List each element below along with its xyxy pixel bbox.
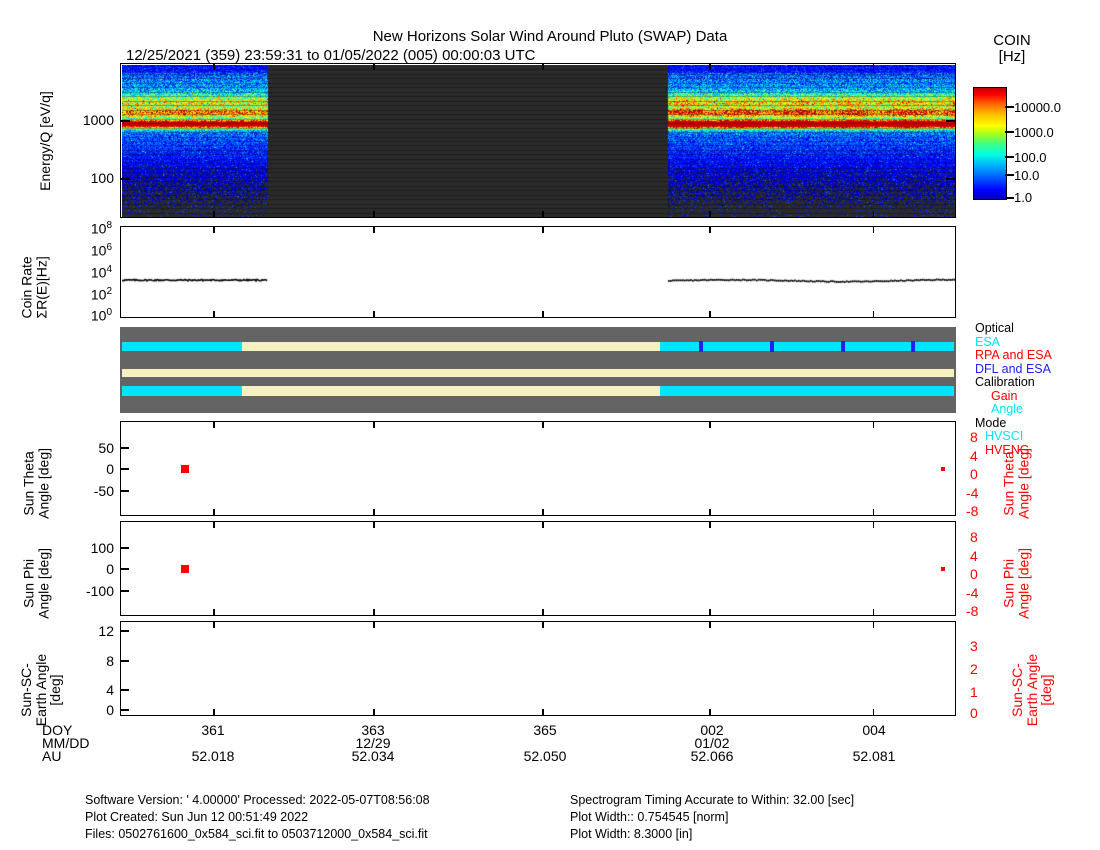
colorbar-tickmark-10000: [1005, 106, 1014, 108]
sun-theta-ylabel-line2: Angle [deg]: [36, 448, 52, 519]
xaxis-tickmark-p1-2-bottom: [542, 311, 544, 318]
sun-phi-right-ytick-4: 4: [970, 548, 978, 564]
footer-right-line2: Plot Width:: 0.754545 [norm]: [570, 810, 728, 824]
sun-sc-earth-ylabel-line1: Sun-SC-: [18, 663, 34, 717]
sun-sc-earth-right-ylabel-line3: [deg]: [1038, 674, 1054, 705]
xaxis-tickmark-p3-0-bottom: [213, 609, 215, 616]
xaxis-tickmark-p3-3-bottom: [709, 609, 711, 616]
xaxis-tickmark-p0-1-top: [373, 63, 375, 70]
sun-theta-point-right: [941, 467, 945, 471]
xaxis-tickmark-p2-4-bottom: [873, 509, 875, 516]
xaxis-tickmark-p1-0-bottom: [213, 311, 215, 318]
xaxis-tick-doy-2: 365: [495, 722, 595, 738]
legend-item-rpa-and-esa: RPA and ESA: [975, 349, 1052, 363]
xaxis-tickmark-p0-4-bottom: [873, 211, 875, 218]
colorbar-tickmark-100: [1005, 156, 1014, 158]
sun-sc-earth-right-ytick-0: 0: [970, 705, 978, 721]
xaxis-tickmark-p0-2-bottom: [542, 211, 544, 218]
xaxis-tickmark-p2-2-top: [542, 421, 544, 428]
sun-sc-earth-right-ylabel-line1: Sun-SC-: [1009, 663, 1025, 717]
xaxis-tickmark-p0-3-bottom: [709, 211, 711, 218]
sun-theta-ytick-0: 0: [56, 461, 114, 477]
sun-sc-earth-ytick-8: 8: [58, 653, 114, 669]
sun-theta-right-ytick-neg4: -4: [966, 485, 978, 501]
xaxis-tickmark-p0-1-bottom: [373, 211, 375, 218]
xaxis-tickmark-p2-0-bottom: [213, 509, 215, 516]
sun-theta-panel: [120, 421, 956, 516]
sun-phi-right-ylabel-line2: Angle [deg]: [1016, 548, 1032, 619]
legend-item-dfl-and-esa: DFL and ESA: [975, 363, 1052, 377]
calibration-segment-gain: [122, 369, 954, 377]
xaxis-row-label-au: AU: [42, 748, 61, 764]
xaxis-tickmark-p1-0-top: [213, 226, 215, 233]
footer-left-line3: Files: 0502761600_0x584_sci.fit to 05037…: [85, 827, 428, 841]
sun-theta-right-ytick-neg8: -8: [966, 503, 978, 519]
xaxis-tickmark-p0-4-top: [873, 63, 875, 70]
xaxis-tickmark-p1-1-top: [373, 226, 375, 233]
colorbar-tickmark-10: [1005, 174, 1014, 176]
coin-rate-ytick-2: 102: [60, 286, 112, 303]
xaxis-tickmark-p4-2-top: [542, 621, 544, 628]
xaxis-tickmark-p1-4-bottom: [873, 311, 875, 318]
sun-phi-tick-neg100: [120, 590, 129, 592]
sun-theta-ylabel-line1: Sun Theta: [21, 451, 37, 515]
sun-phi-panel: [120, 521, 956, 616]
xaxis-tickmark-p3-4-bottom: [873, 609, 875, 616]
sun-theta-right-ytick-0: 0: [970, 466, 978, 482]
xaxis-tick-au-2: 52.050: [495, 748, 595, 764]
xaxis-tickmark-p1-1-bottom: [373, 311, 375, 318]
xaxis-tickmark-p3-2-bottom: [542, 609, 544, 616]
sun-theta-ytick-50: 50: [56, 440, 114, 456]
spectrogram-tick-major-1000-right: [946, 120, 956, 122]
xaxis-tickmark-p1-4-top: [873, 226, 875, 233]
xaxis-tickmark-p4-1-bottom: [373, 709, 375, 716]
sun-sc-earth-right-ytick-2: 2: [970, 661, 978, 677]
legend-group-calibration: Calibration Gain Angle: [975, 376, 1052, 417]
sun-phi-right-ylabel-line1: Sun Phi: [1001, 559, 1017, 608]
xaxis-tickmark-p0-0-bottom: [213, 211, 215, 218]
legend-header-optical: Optical: [975, 322, 1052, 336]
spectrogram-ylabel: Energy/Q [eV/q]: [37, 61, 53, 221]
xaxis-tickmark-p3-0-top: [213, 521, 215, 528]
sun-phi-ytick-0: 0: [52, 561, 114, 577]
mode-segment-hvsci-right: [660, 386, 954, 396]
xaxis-tickmark-p0-0-top: [213, 63, 215, 70]
legend-header-calibration: Calibration: [975, 376, 1052, 390]
xaxis-tickmark-p2-3-bottom: [709, 509, 711, 516]
xaxis-tickmark-p2-0-top: [213, 421, 215, 428]
colorbar-title-line1: COIN: [993, 32, 1031, 49]
page-title: New Horizons Solar Wind Around Pluto (SW…: [0, 28, 1100, 45]
xaxis-tickmark-p4-0-top: [213, 621, 215, 628]
xaxis-tickmark-p2-4-top: [873, 421, 875, 428]
xaxis-tickmark-p3-4-top: [873, 521, 875, 528]
xaxis-tickmark-p1-3-bottom: [709, 311, 711, 318]
xaxis-tickmark-p2-3-top: [709, 421, 711, 428]
xaxis-tick-au-4: 52.081: [824, 748, 924, 764]
xaxis-tick-au-3: 52.066: [662, 748, 762, 764]
sun-phi-right-ytick-neg8: -8: [966, 603, 978, 619]
sun-theta-point-left: [181, 465, 189, 473]
xaxis-tick-doy-4: 004: [824, 722, 924, 738]
xaxis-tickmark-p2-1-bottom: [373, 509, 375, 516]
coin-rate-ytick-6: 106: [60, 242, 112, 259]
xaxis-tickmark-p1-3-top: [709, 226, 711, 233]
coin-rate-ytick-4: 104: [60, 264, 112, 281]
mode-segment-hveng: [242, 386, 660, 396]
sun-theta-tick-neg50: [120, 490, 129, 492]
sun-theta-ytick-neg50: -50: [56, 483, 114, 499]
sun-sc-earth-right-ylabel-line2: Earth Angle: [1024, 654, 1040, 726]
spectrogram-ytick-100: 100: [60, 170, 114, 186]
xaxis-tickmark-p4-1-top: [373, 621, 375, 628]
xaxis-tickmark-p3-1-bottom: [373, 609, 375, 616]
spectrogram-tick-major-100: [120, 178, 130, 180]
sun-theta-right-ylabel-line1: Sun Theta: [1001, 451, 1017, 515]
sun-phi-point-right: [941, 567, 945, 571]
footer-left-line1: Software Version: ' 4.00000' Processed: …: [85, 793, 430, 807]
xaxis-tick-doy-0: 361: [163, 722, 263, 738]
sun-phi-ylabel-line2: Angle [deg]: [36, 548, 52, 619]
sun-sc-earth-ytick-12: 12: [58, 623, 114, 639]
legend-item-gain: Gain: [975, 390, 1052, 404]
sun-sc-earth-right-ylabel: Sun-SC- Earth Angle [deg]: [1010, 615, 1054, 765]
sun-theta-right-ytick-8: 8: [970, 429, 978, 445]
legend-item-angle: Angle: [975, 403, 1052, 417]
sun-theta-right-ytick-4: 4: [970, 448, 978, 464]
colorbar-tick-100: 100.0: [1014, 150, 1047, 165]
colorbar-tick-10000: 10000.0: [1014, 100, 1061, 115]
colorbar-tickmark-1: [1005, 197, 1014, 199]
sun-phi-right-ytick-0: 0: [970, 566, 978, 582]
coin-rate-ytick-0: 100: [60, 307, 112, 324]
sun-phi-tick-0: [120, 568, 129, 570]
xaxis-tickmark-p0-3-top: [709, 63, 711, 70]
sun-sc-earth-ytick-0: 0: [58, 702, 114, 718]
sun-phi-ylabel-line1: Sun Phi: [21, 559, 37, 608]
sun-sc-earth-tick-12: [120, 630, 129, 632]
colorbar-title-line2: [Hz]: [999, 48, 1026, 65]
xaxis-tickmark-p3-2-top: [542, 521, 544, 528]
xaxis-tickmark-p4-3-bottom: [709, 709, 711, 716]
xaxis-tickmark-p0-2-top: [542, 63, 544, 70]
legend-item-esa: ESA: [975, 336, 1052, 350]
date-range-subtitle: 12/25/2021 (359) 23:59:31 to 01/05/2022 …: [126, 47, 535, 64]
footer-right-line3: Plot Width: 8.3000 [in]: [570, 827, 692, 841]
xaxis-tickmark-p2-1-top: [373, 421, 375, 428]
xaxis-tickmark-p3-1-top: [373, 521, 375, 528]
sun-phi-ytick-neg100: -100: [52, 583, 114, 599]
xaxis-tickmark-p4-3-top: [709, 621, 711, 628]
sun-theta-right-ylabel-line2: Angle [deg]: [1016, 448, 1032, 519]
xaxis-tickmark-p4-2-bottom: [542, 709, 544, 716]
legend-group-optical: Optical ESA RPA and ESA DFL and ESA: [975, 322, 1052, 376]
colorbar-tick-10: 10.0: [1014, 168, 1039, 183]
optical-segment-esa-right: [660, 342, 954, 351]
spectrogram-tick-major-1000: [120, 120, 130, 122]
sun-phi-point-left: [181, 565, 189, 573]
optical-marker-dfl-3: [841, 341, 845, 352]
optical-marker-dfl-4: [911, 341, 915, 352]
sun-sc-earth-tick-4: [120, 689, 129, 691]
spectrogram-tick-major-100-right: [946, 178, 956, 180]
sun-sc-earth-ylabel-line2: Earth Angle: [33, 654, 49, 726]
colorbar-tickmark-1000: [1005, 131, 1014, 133]
spectrogram-ytick-1000: 1000: [60, 112, 114, 128]
sun-phi-tick-100: [120, 547, 129, 549]
mode-segment-hvsci-left: [122, 386, 242, 396]
optical-marker-dfl-1: [699, 341, 703, 352]
xaxis-tickmark-p2-2-bottom: [542, 509, 544, 516]
xaxis-tickmark-p4-4-bottom: [873, 709, 875, 716]
sun-phi-ytick-100: 100: [52, 540, 114, 556]
sun-phi-right-ytick-neg4: -4: [966, 585, 978, 601]
xaxis-tickmark-p3-3-top: [709, 521, 711, 528]
sun-sc-earth-ytick-4: 4: [58, 682, 114, 698]
xaxis-tickmark-p1-2-top: [542, 226, 544, 233]
optical-segment-esa-left: [122, 342, 242, 351]
sun-sc-earth-right-ytick-3: 3: [970, 638, 978, 654]
footer-right-line1: Spectrogram Timing Accurate to Within: 3…: [570, 793, 854, 807]
sun-theta-tick-0: [120, 468, 129, 470]
spectrogram-image: [122, 65, 955, 217]
coin-rate-ylabel: Coin Rate ΣR(E)[Hz]: [20, 222, 51, 352]
xaxis-tickmark-p4-0-bottom: [213, 709, 215, 716]
sun-sc-earth-right-ytick-1: 1: [970, 684, 978, 700]
colorbar: [973, 87, 1007, 200]
colorbar-title: COIN [Hz]: [972, 33, 1052, 65]
sun-theta-tick-50: [120, 447, 129, 449]
coin-rate-ylabel-line2: ΣR(E)[Hz]: [34, 256, 50, 318]
optical-segment-rpa-esa: [242, 342, 660, 351]
colorbar-tick-1000: 1000.0: [1014, 125, 1054, 140]
xaxis-tick-au-1: 52.034: [323, 748, 423, 764]
xaxis-tick-au-0: 52.018: [163, 748, 263, 764]
sun-sc-earth-panel: [120, 621, 956, 716]
sun-phi-right-ytick-8: 8: [970, 529, 978, 545]
coin-rate-series: [122, 228, 955, 317]
sun-sc-earth-tick-0: [120, 709, 129, 711]
sun-sc-earth-tick-8: [120, 660, 129, 662]
optical-marker-dfl-2: [770, 341, 774, 352]
footer-left-line2: Plot Created: Sun Jun 12 00:51:49 2022: [85, 810, 308, 824]
coin-rate-ylabel-line1: Coin Rate: [19, 256, 35, 318]
coin-rate-ytick-8: 108: [60, 220, 112, 237]
colorbar-tick-1: 1.0: [1014, 190, 1032, 205]
xaxis-tickmark-p4-4-top: [873, 621, 875, 628]
